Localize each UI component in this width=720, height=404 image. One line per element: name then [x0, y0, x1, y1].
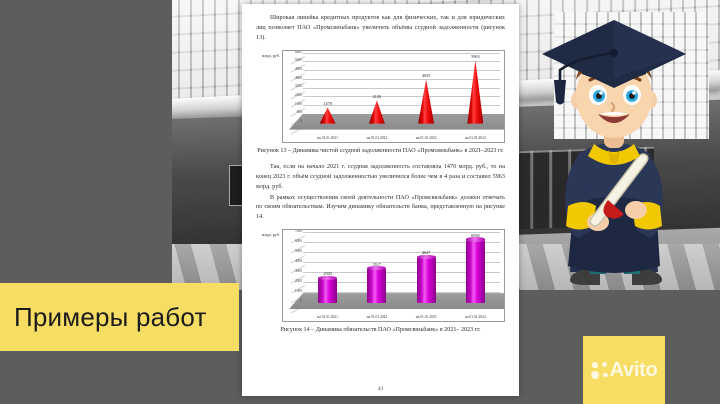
chart-13-tick-3: 2400	[283, 94, 303, 98]
chart-14-xlabel-0: на 01.01.2021	[310, 315, 345, 319]
banner-title: Примеры работ	[0, 302, 207, 333]
chart-14-tick-2: 2000	[283, 280, 303, 284]
chart-14-tick-3: 3000	[283, 270, 303, 274]
avito-wordmark: Avito	[610, 360, 658, 380]
chart-14: млрд. руб. 0 1000 2000 3000	[256, 229, 505, 322]
chart-13-xlabel-2: на 01.01.2023	[408, 136, 443, 140]
chart-14-ylabel: млрд. руб.	[256, 229, 282, 322]
figure-14-caption: Рисунок 14 – Динамика обязательств ПАО «…	[256, 326, 505, 335]
chart-14-tick-5: 5000	[283, 250, 303, 254]
chart-14-tick-4: 4000	[283, 260, 303, 264]
chart-13-tick-8: 6400	[283, 51, 303, 55]
chart-14-xlabel-3: на 01.01.2024	[458, 315, 493, 319]
chart-13-tick-1: 800	[283, 111, 303, 115]
chart-14-tick-6: 6000	[283, 240, 303, 244]
chart-13-bars: 1470 2120 4035 5963	[303, 54, 500, 124]
chart-13-cone-2	[418, 79, 434, 123]
chart-13-tick-6: 4800	[283, 68, 303, 72]
chart-14-bars: 2503 3517 4647 6930	[303, 233, 500, 303]
chart-13-xlabel-0: на 01.01.2021	[310, 136, 345, 140]
chart-13: млрд. руб. 0 800 1600 2400	[256, 50, 505, 143]
avito-dots-icon	[591, 362, 608, 379]
chart-13-bar-0: 1470	[310, 54, 345, 124]
page-number: 43	[242, 386, 519, 392]
chart-14-cylinder-1	[367, 268, 386, 303]
chart-13-xlabel-1: на 01.01.2022	[359, 136, 394, 140]
chart-13-plot-area: 0 800 1600 2400 3200 4000 4800 5600 6400…	[282, 50, 505, 143]
chart-14-bar-3: 6930	[458, 233, 493, 303]
chart-14-cylinder-3	[466, 240, 485, 304]
chart-13-value-1: 2120	[373, 94, 382, 99]
chart-13-tick-2: 1600	[283, 103, 303, 107]
chart-14-y-ticks: 0 1000 2000 3000 4000 5000 6000 7000	[283, 230, 303, 321]
chart-14-tick-7: 7000	[283, 230, 303, 234]
avito-watermark: Avito	[583, 336, 665, 404]
chart-13-tick-7: 5600	[283, 59, 303, 63]
slide-canvas: Широкая линейка кредитных продуктов как …	[0, 0, 720, 404]
chart-13-bar-1: 2120	[359, 54, 394, 124]
chart-14-plot-area: 0 1000 2000 3000 4000 5000 6000 7000 250…	[282, 229, 505, 322]
chart-14-bar-0: 2503	[310, 233, 345, 303]
chart-13-bar-3: 5963	[458, 54, 493, 124]
chart-13-tick-5: 4000	[283, 77, 303, 81]
avito-logo: Avito	[591, 360, 658, 380]
chart-13-tick-4: 3200	[283, 85, 303, 89]
chart-13-cone-3	[467, 60, 483, 124]
left-gray-panel	[0, 0, 172, 290]
chart-14-xlabel-2: на 01.01.2023	[408, 315, 443, 319]
chart-14-tick-1: 1000	[283, 290, 303, 294]
chart-13-value-0: 1470	[323, 101, 332, 106]
chart-13-tick-0: 0	[283, 120, 303, 124]
document-paragraph-3: В рамках осуществления своей деятельност…	[256, 194, 505, 224]
figure-13-caption: Рисунок 13 – Динамика чистой ссудной зад…	[256, 147, 505, 156]
chart-14-x-labels: на 01.01.2021 на 01.01.2022 на 01.01.202…	[303, 315, 500, 319]
chart-13-cone-0	[320, 107, 336, 123]
chart-13-bar-2: 4035	[408, 54, 443, 124]
chart-14-cylinder-0	[318, 278, 337, 303]
chart-13-x-labels: на 01.01.2021 на 01.01.2022 на 01.01.202…	[303, 136, 500, 140]
chart-13-value-3: 5963	[471, 54, 480, 59]
chart-14-tick-0: 0	[283, 300, 303, 304]
chart-14-xlabel-1: на 01.01.2022	[359, 315, 394, 319]
document-paragraph-1: Широкая линейка кредитных продуктов как …	[256, 14, 505, 44]
document-page[interactable]: Широкая линейка кредитных продуктов как …	[242, 4, 519, 396]
chart-13-ylabel: млрд. руб.	[256, 50, 282, 143]
chart-14-cylinder-2	[417, 257, 436, 303]
chart-14-bar-1: 3517	[359, 233, 394, 303]
chart-13-cone-1	[369, 100, 385, 123]
cartoon-graduate-boy	[508, 4, 720, 292]
chart-13-y-ticks: 0 800 1600 2400 3200 4000 4800 5600 6400	[283, 51, 303, 142]
examples-banner: Примеры работ	[0, 283, 239, 351]
chart-13-xlabel-3: на 01.01.2024	[458, 136, 493, 140]
chart-13-value-2: 4035	[422, 73, 431, 78]
chart-14-bar-2: 4647	[408, 233, 443, 303]
document-paragraph-2: Так, если на начало 2021 г. ссудная задо…	[256, 163, 505, 193]
